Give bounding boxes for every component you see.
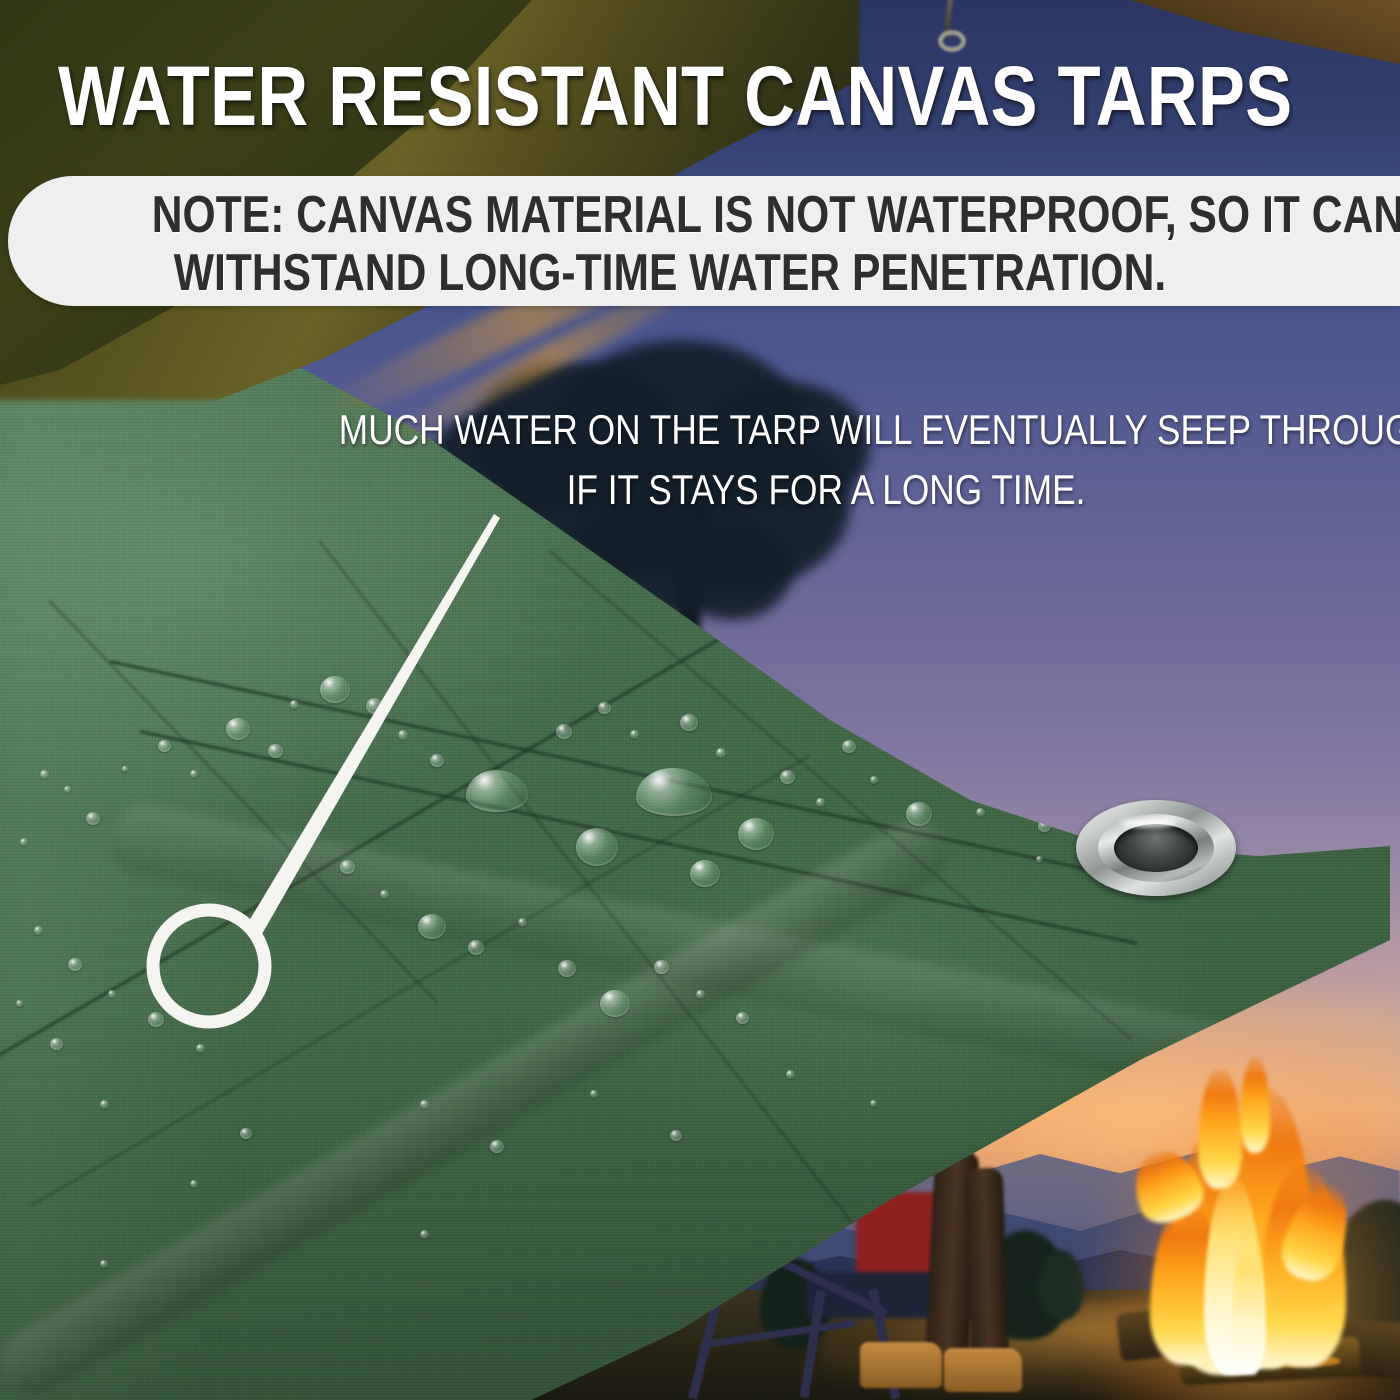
- water-droplet: [590, 1090, 598, 1098]
- water-droplet: [148, 1012, 164, 1027]
- water-droplet: [558, 960, 576, 977]
- note-banner-text: NOTE: CANVAS MATERIAL IS NOT WATERPROOF,…: [152, 186, 1188, 302]
- water-droplet: [68, 958, 82, 971]
- caption-line-2: IF IT STAYS FOR A LONG TIME.: [339, 460, 1313, 520]
- tree-foliage: [672, 520, 792, 620]
- note-line-2: WITHSTAND LONG-TIME WATER PENETRATION.: [152, 244, 1188, 302]
- water-droplet: [786, 1070, 795, 1079]
- water-droplet: [630, 730, 639, 739]
- water-droplet: [780, 770, 795, 784]
- water-droplet: [34, 926, 43, 935]
- water-droplet: [842, 740, 856, 753]
- water-droplet: [420, 1230, 429, 1239]
- water-droplet: [870, 1100, 877, 1107]
- water-droplet: [556, 724, 572, 739]
- water-droplet: [64, 786, 71, 793]
- water-droplet: [906, 802, 932, 826]
- water-droplet: [190, 770, 198, 778]
- water-droplet: [468, 940, 484, 955]
- water-droplet: [670, 1130, 682, 1141]
- metal-grommet: [1076, 800, 1236, 896]
- water-droplet: [340, 860, 355, 874]
- water-droplet: [268, 744, 283, 758]
- water-droplet: [398, 730, 408, 740]
- water-droplet: [40, 770, 49, 779]
- water-droplet: [20, 838, 28, 846]
- water-droplet: [50, 1038, 63, 1050]
- water-droplet: [1036, 856, 1043, 863]
- water-droplet: [600, 990, 630, 1017]
- water-droplet: [598, 702, 611, 714]
- water-droplet: [976, 808, 985, 817]
- water-droplet: [122, 766, 128, 772]
- water-droplet: [680, 714, 698, 731]
- water-droplet: [190, 1180, 198, 1188]
- water-droplet: [86, 812, 100, 825]
- water-droplet: [320, 676, 350, 703]
- water-droplet: [16, 1000, 23, 1007]
- water-droplet: [380, 890, 389, 899]
- campfire: [1140, 1055, 1380, 1400]
- water-droplet: [158, 740, 171, 752]
- person-boot: [860, 1342, 942, 1388]
- water-droplet: [690, 860, 720, 887]
- product-infographic: WATER RESISTANT CANVAS TARPS NOTE: CANVA…: [0, 0, 1400, 1400]
- grommet-specular-highlight: [1120, 818, 1176, 828]
- person-boot: [944, 1348, 1022, 1392]
- note-line-1: NOTE: CANVAS MATERIAL IS NOT WATERPROOF,…: [152, 186, 1188, 244]
- water-droplet: [196, 1044, 205, 1053]
- water-droplet: [716, 748, 726, 758]
- water-droplet: [696, 990, 705, 999]
- water-droplet: [420, 1100, 429, 1109]
- caption-line-1: MUCH WATER ON THE TARP WILL EVENTUALLY S…: [339, 400, 1313, 460]
- water-droplet: [654, 960, 669, 974]
- grommet-hole: [1114, 824, 1198, 872]
- page-title: WATER RESISTANT CANVAS TARPS: [58, 54, 1292, 138]
- water-droplet: [240, 1128, 252, 1139]
- water-droplet: [736, 1012, 749, 1024]
- water-droplet: [100, 1260, 108, 1268]
- water-droplet: [108, 990, 116, 998]
- water-droplet: [490, 1140, 504, 1153]
- water-droplet-large: [576, 828, 618, 866]
- water-droplet-large: [738, 818, 774, 850]
- water-droplet: [870, 776, 878, 784]
- water-droplet: [418, 914, 446, 939]
- water-droplet: [518, 918, 527, 927]
- water-droplet: [100, 1100, 109, 1109]
- water-droplet: [430, 754, 444, 767]
- person-leg: [965, 1167, 1010, 1364]
- water-droplet: [366, 698, 383, 714]
- flame-tip: [1198, 1069, 1242, 1189]
- water-droplet: [816, 798, 825, 807]
- caption-text: MUCH WATER ON THE TARP WILL EVENTUALLY S…: [339, 400, 1313, 520]
- flame-tip: [1240, 1057, 1270, 1153]
- water-droplet: [290, 700, 299, 709]
- water-droplet: [226, 718, 250, 740]
